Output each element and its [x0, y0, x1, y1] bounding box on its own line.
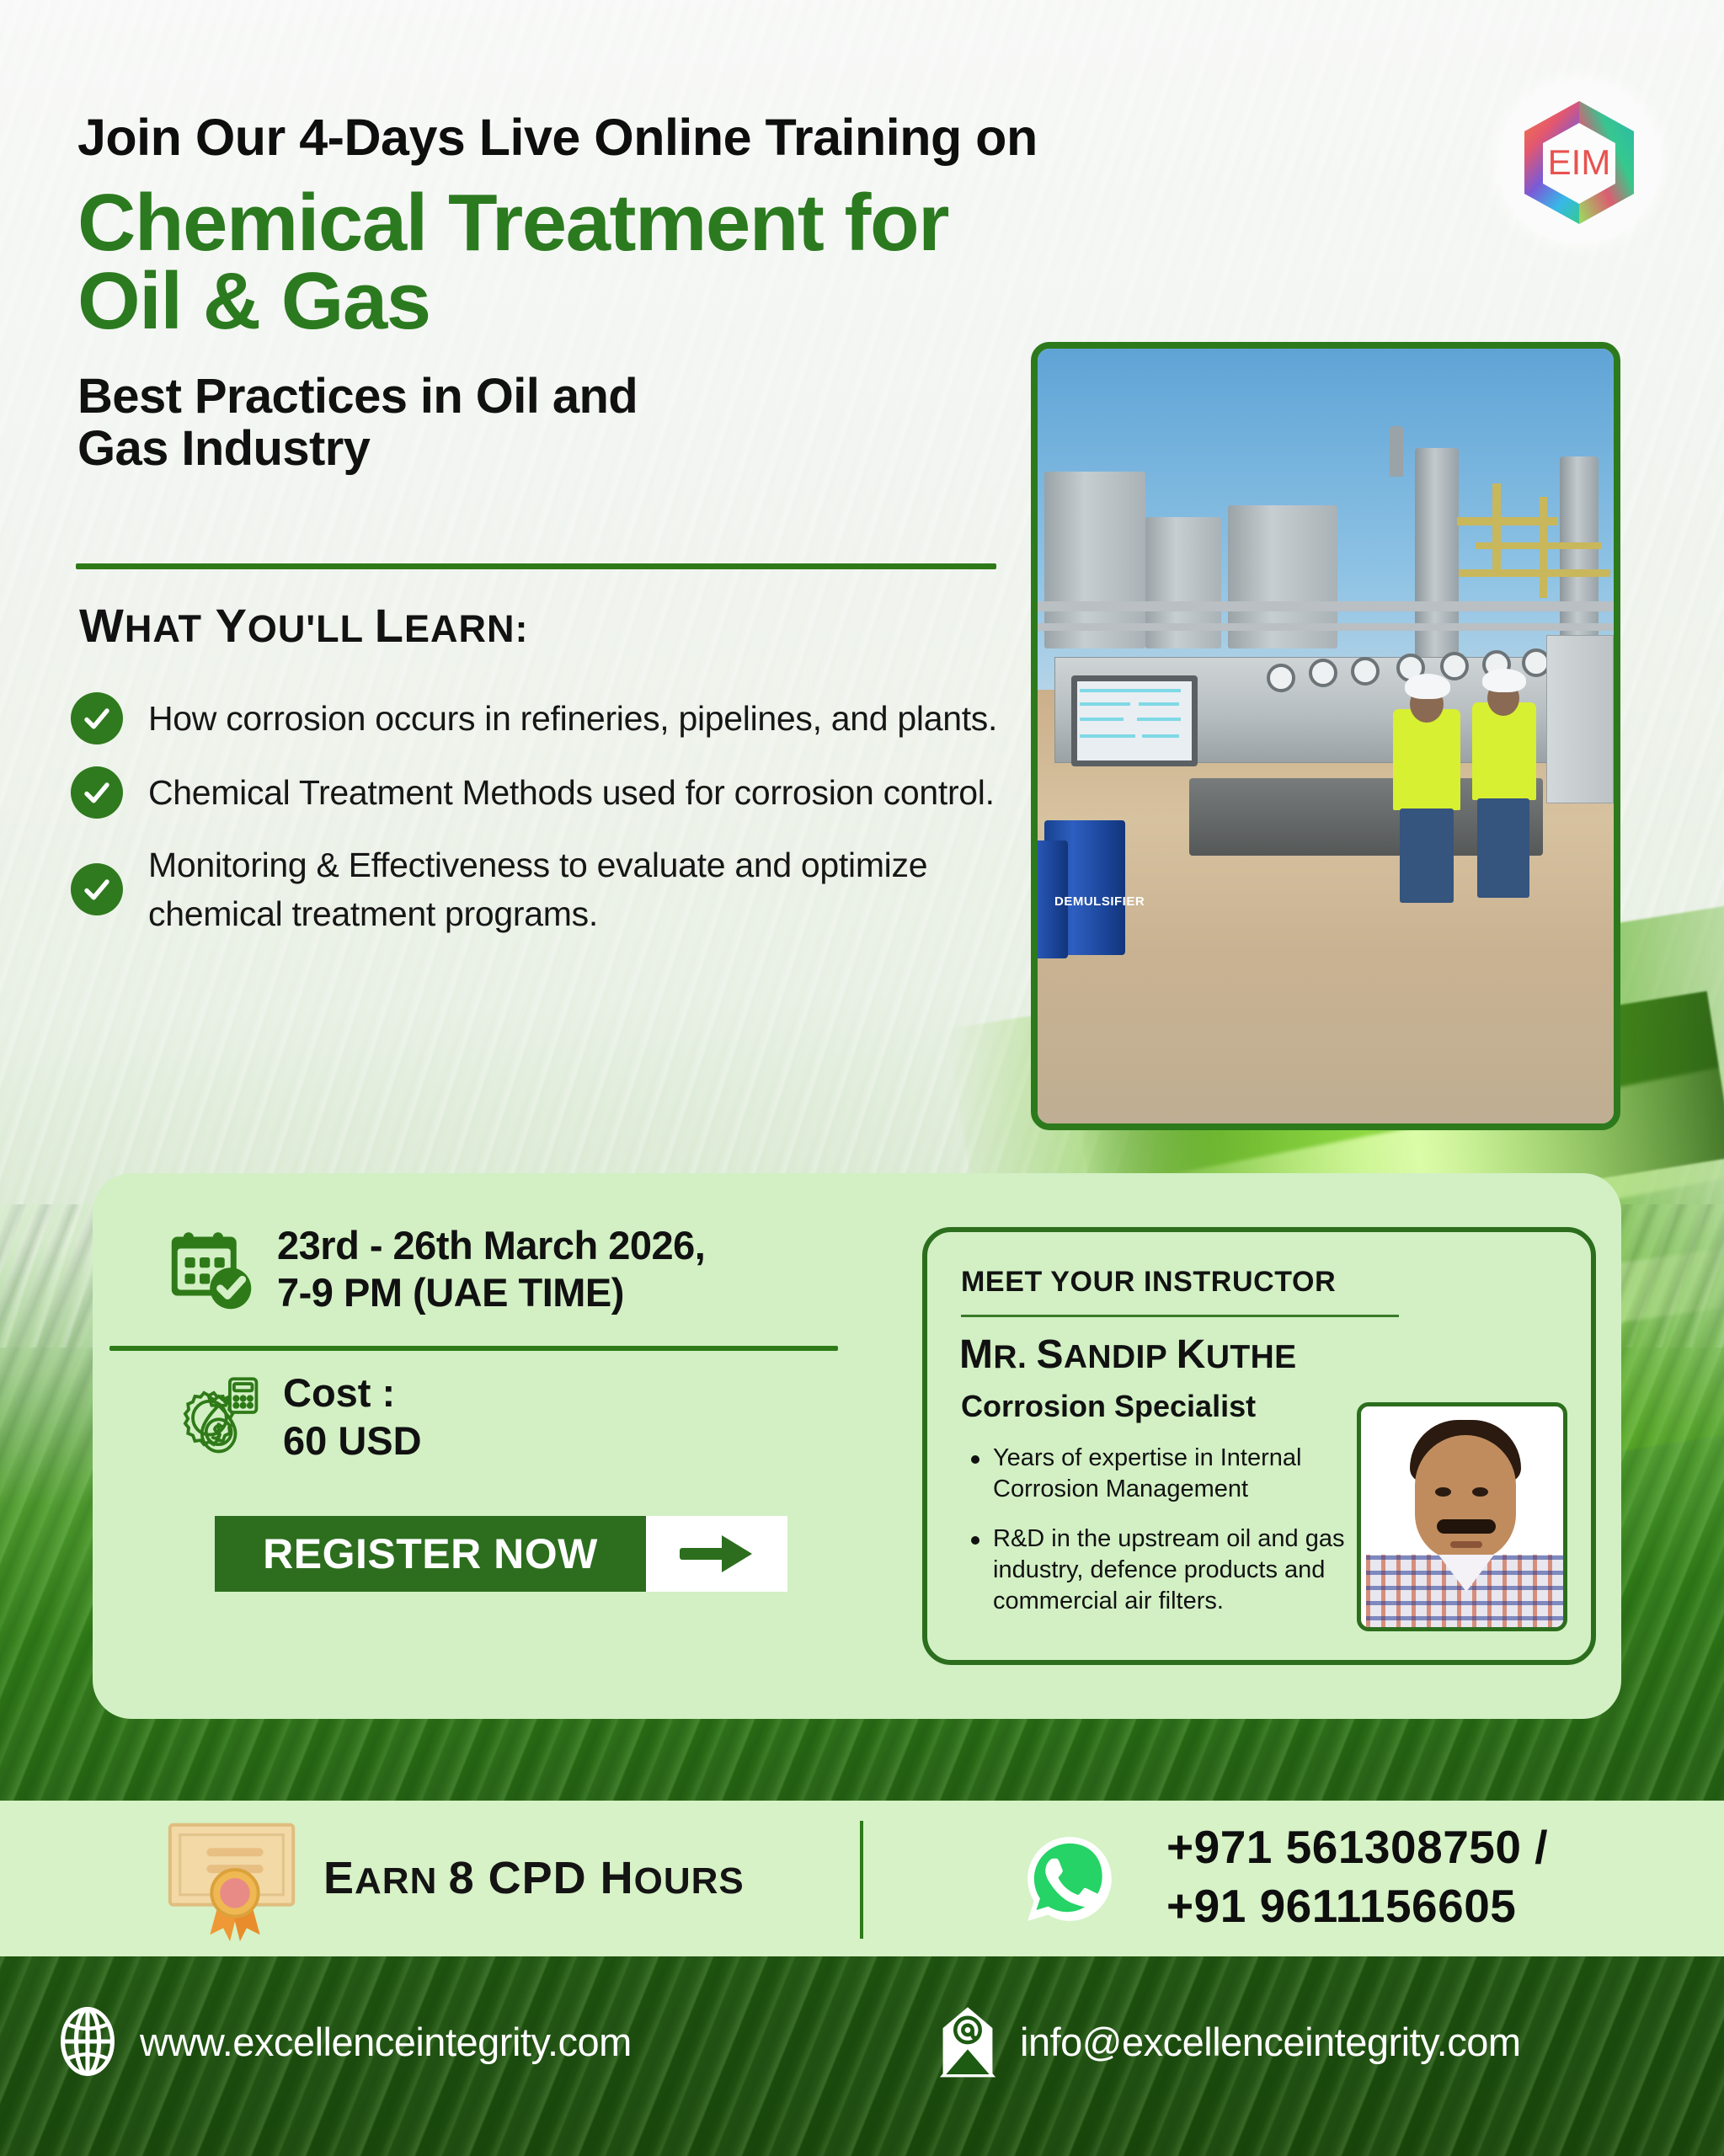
cpd-hours-label: EARN 8 CPD HOURS	[323, 1852, 745, 1904]
learn-bullet-list: How corrosion occurs in refineries, pipe…	[71, 692, 1006, 960]
date-time-row: 23rd - 26th March 2026, 7-9 PM (UAE TIME…	[164, 1222, 705, 1317]
arrow-right-icon	[678, 1532, 755, 1576]
instructor-bullet-list: Years of expertise in Internal Corrosion…	[971, 1443, 1375, 1636]
cost-text: Cost : 60 USD	[283, 1369, 422, 1465]
cpd-part: OURS	[634, 1860, 745, 1902]
date-line: 23rd - 26th March 2026,	[277, 1222, 705, 1269]
instructor-name-part: R.	[993, 1339, 1036, 1375]
register-now-button[interactable]: REGISTER NOW	[215, 1516, 646, 1592]
title-line-2: Oil & Gas	[77, 262, 1366, 340]
learn-heading-part: HAT	[125, 607, 202, 650]
instructor-name-part: K	[1177, 1332, 1206, 1377]
list-item-label: Years of expertise in Internal Corrosion…	[993, 1443, 1375, 1505]
bullet-dot-icon	[971, 1536, 979, 1545]
learn-heading-part: W	[79, 599, 125, 652]
details-card: 23rd - 26th March 2026, 7-9 PM (UAE TIME…	[93, 1173, 1621, 1719]
svg-text:EIM: EIM	[1548, 142, 1611, 182]
cost-value: 60 USD	[283, 1417, 422, 1465]
calendar-icon	[164, 1222, 259, 1316]
footer-bar: www.excellenceintegrity.com info@excelle…	[0, 1956, 1724, 2156]
learn-heading-part: OU'LL	[248, 607, 375, 650]
bar-divider	[860, 1821, 863, 1939]
drum-label: DEMULSIFIER	[1054, 894, 1145, 909]
list-item-label: Chemical Treatment Methods used for corr…	[148, 768, 995, 817]
money-gear-calculator-icon	[168, 1370, 266, 1463]
header-divider	[76, 563, 996, 569]
website-label: www.excellenceintegrity.com	[140, 2019, 632, 2065]
cpd-part: E	[323, 1853, 355, 1903]
instructor-section-label: MEET YOUR INSTRUCTOR	[961, 1266, 1336, 1299]
cpd-part: ARN	[355, 1860, 449, 1902]
website-item[interactable]: www.excellenceintegrity.com	[57, 2005, 632, 2078]
instructor-name: MR. SANDIP KUTHE	[959, 1331, 1297, 1378]
instructor-avatar	[1357, 1402, 1567, 1631]
email-label: info@excellenceintegrity.com	[1020, 2019, 1521, 2065]
refinery-photo: DEMULSIFIER	[1031, 342, 1620, 1130]
bullet-dot-icon	[971, 1455, 979, 1464]
learn-heading: WHAT YOU'LL LEARN:	[79, 598, 529, 653]
cpd-block: EARN 8 CPD HOURS	[160, 1811, 745, 1945]
list-item-label: Monitoring & Effectiveness to evaluate a…	[148, 841, 1006, 938]
register-arrow-button[interactable]	[646, 1516, 787, 1592]
list-item: Chemical Treatment Methods used for corr…	[71, 766, 1006, 819]
instructor-role: Corrosion Specialist	[961, 1389, 1256, 1424]
globe-icon	[57, 2005, 118, 2078]
card-divider	[109, 1346, 838, 1351]
check-icon	[71, 863, 123, 915]
list-item-label: How corrosion occurs in refineries, pipe…	[148, 694, 997, 743]
phone-line-2: +91 9611156605	[1166, 1876, 1548, 1935]
date-time-text: 23rd - 26th March 2026, 7-9 PM (UAE TIME…	[277, 1222, 705, 1317]
learn-heading-part: Y	[202, 599, 248, 652]
list-item: R&D in the upstream oil and gas industry…	[971, 1524, 1375, 1617]
hexagon-logo-icon: EIM	[1508, 91, 1651, 234]
cost-label: Cost :	[283, 1369, 422, 1417]
check-icon	[71, 766, 123, 819]
learn-heading-part: L	[375, 599, 404, 652]
instructor-divider	[961, 1315, 1399, 1317]
phone-numbers: +971 561308750 / +91 9611156605	[1166, 1817, 1548, 1936]
eim-logo: EIM	[1497, 81, 1661, 244]
cpd-part: 8 CPD	[449, 1853, 600, 1903]
list-item: Years of expertise in Internal Corrosion…	[971, 1443, 1375, 1505]
certificate-icon	[160, 1811, 310, 1945]
instructor-name-part: ANDIP	[1064, 1339, 1177, 1375]
phone-line-1: +971 561308750 /	[1166, 1817, 1548, 1876]
kicker-text: Join Our 4-Days Live Online Training on	[77, 111, 1366, 163]
list-item: How corrosion occurs in refineries, pipe…	[71, 692, 1006, 744]
cpd-contact-bar: EARN 8 CPD HOURS +971 561308750 / +91 96…	[0, 1801, 1724, 1956]
title-line-1: Chemical Treatment for	[77, 184, 1366, 262]
instructor-name-part: UTHE	[1206, 1339, 1297, 1375]
instructor-name-part: S	[1036, 1332, 1063, 1377]
cpd-part: H	[600, 1853, 634, 1903]
check-icon	[71, 692, 123, 744]
whatsapp-icon[interactable]	[1023, 1833, 1116, 1925]
envelope-at-icon	[937, 2005, 998, 2078]
register-now-label: REGISTER NOW	[263, 1529, 598, 1578]
list-item: Monitoring & Effectiveness to evaluate a…	[71, 841, 1006, 938]
time-line: 7-9 PM (UAE TIME)	[277, 1269, 705, 1316]
instructor-box: MEET YOUR INSTRUCTOR MR. SANDIP KUTHE Co…	[922, 1227, 1596, 1665]
instructor-name-part: M	[959, 1332, 993, 1377]
cost-row: Cost : 60 USD	[168, 1369, 422, 1465]
list-item-label: R&D in the upstream oil and gas industry…	[993, 1524, 1375, 1617]
learn-heading-part: EARN:	[404, 607, 529, 650]
page-title: Chemical Treatment for Oil & Gas	[77, 184, 1366, 340]
email-item[interactable]: info@excellenceintegrity.com	[937, 2005, 1521, 2078]
flyer-root: EIM Join Our 4-Days Live Online Training…	[0, 0, 1724, 2156]
